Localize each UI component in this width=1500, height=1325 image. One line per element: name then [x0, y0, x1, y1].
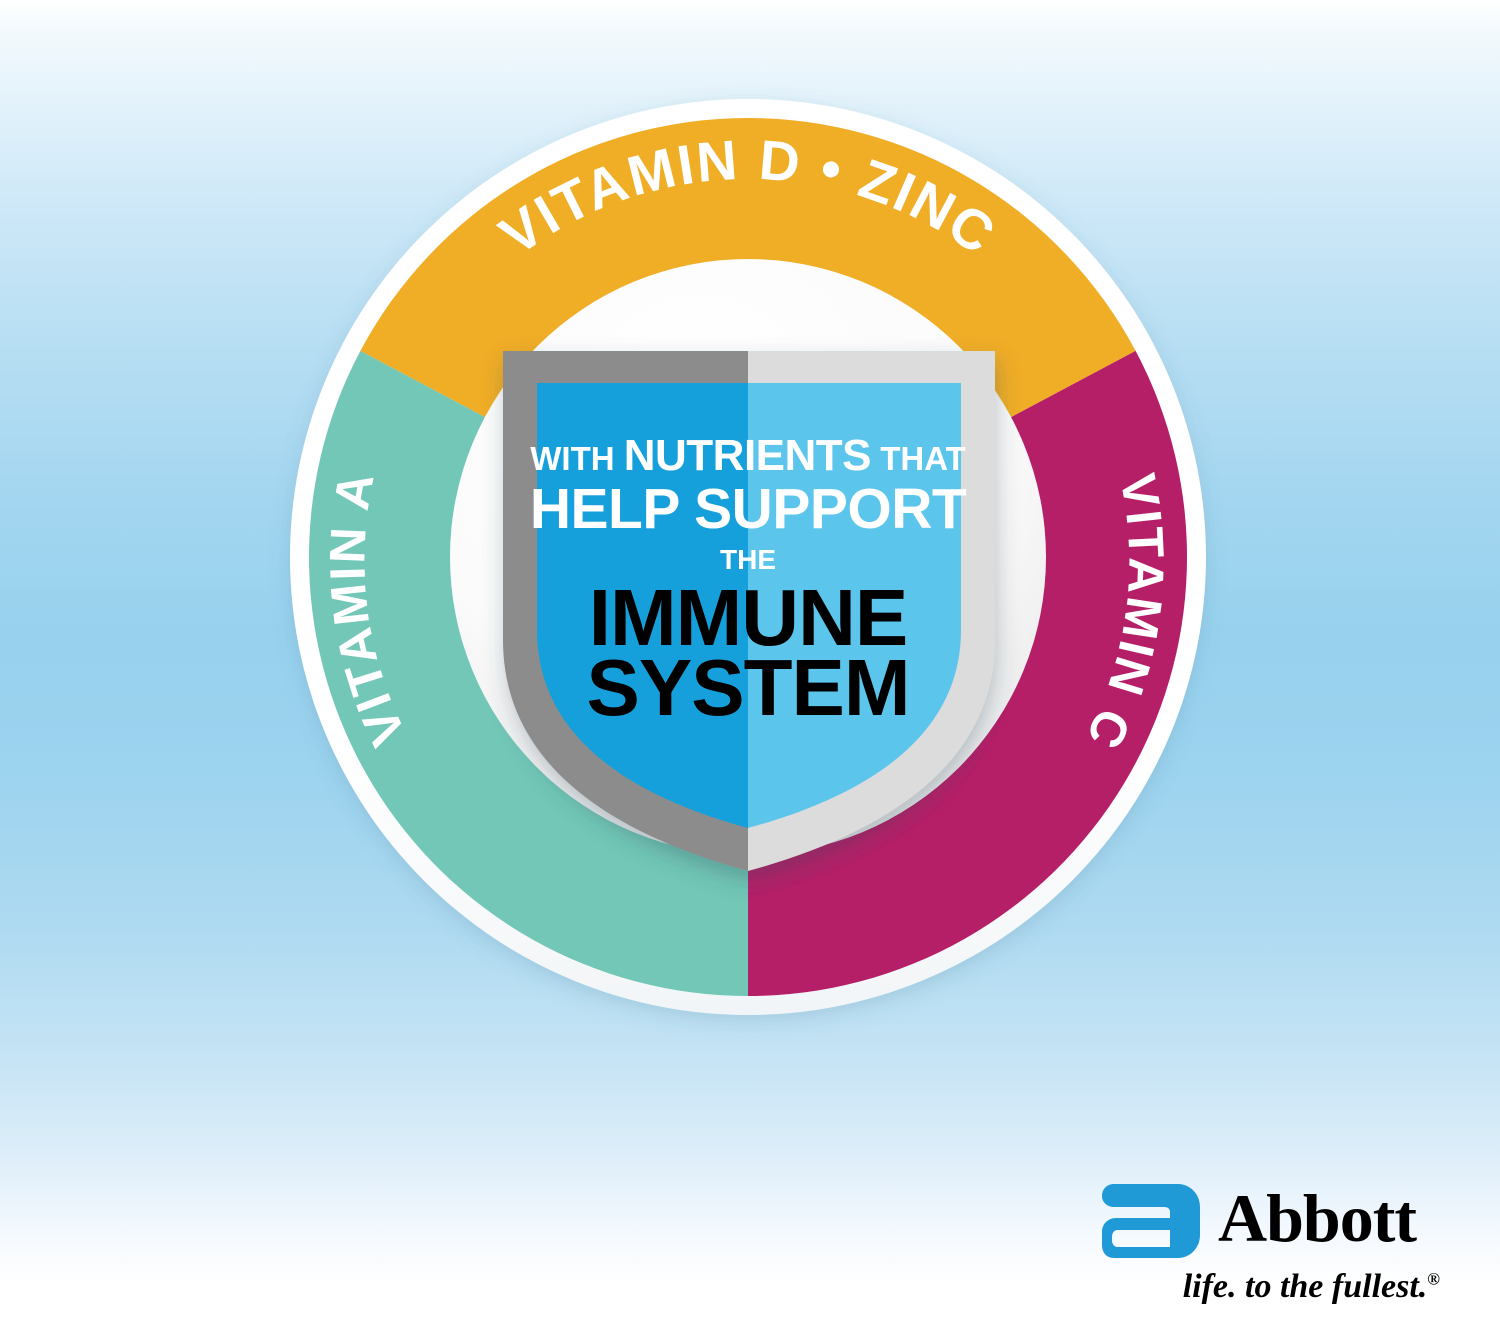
- shield-graphic: WITH NUTRIENTS THAT HELP SUPPORT THE IMM…: [0, 0, 1500, 1060]
- abbott-logo: Abbott life. to the fullest.®: [1100, 1180, 1440, 1305]
- nutrient-wheel: VITAMIN D • ZINC VITAMIN A VITAMIN C: [0, 0, 1500, 1060]
- abbott-a-symbol-icon: [1100, 1182, 1204, 1260]
- registered-mark: ®: [1427, 1270, 1440, 1289]
- tagline-rest: to the fullest: [1237, 1268, 1419, 1305]
- infographic-canvas: VITAMIN D • ZINC VITAMIN A VITAMIN C: [0, 0, 1500, 1325]
- abbott-wordmark: Abbott: [1218, 1182, 1416, 1254]
- shield-text-block: WITH NUTRIENTS THAT HELP SUPPORT THE IMM…: [530, 431, 967, 732]
- shield-line-2: HELP SUPPORT: [530, 477, 967, 541]
- tagline-prefix: life.: [1183, 1268, 1237, 1305]
- shield-line-3: THE: [720, 544, 776, 575]
- abbott-tagline: life. to the fullest.®: [1100, 1268, 1440, 1306]
- shield-line-5: SYSTEM: [587, 643, 910, 732]
